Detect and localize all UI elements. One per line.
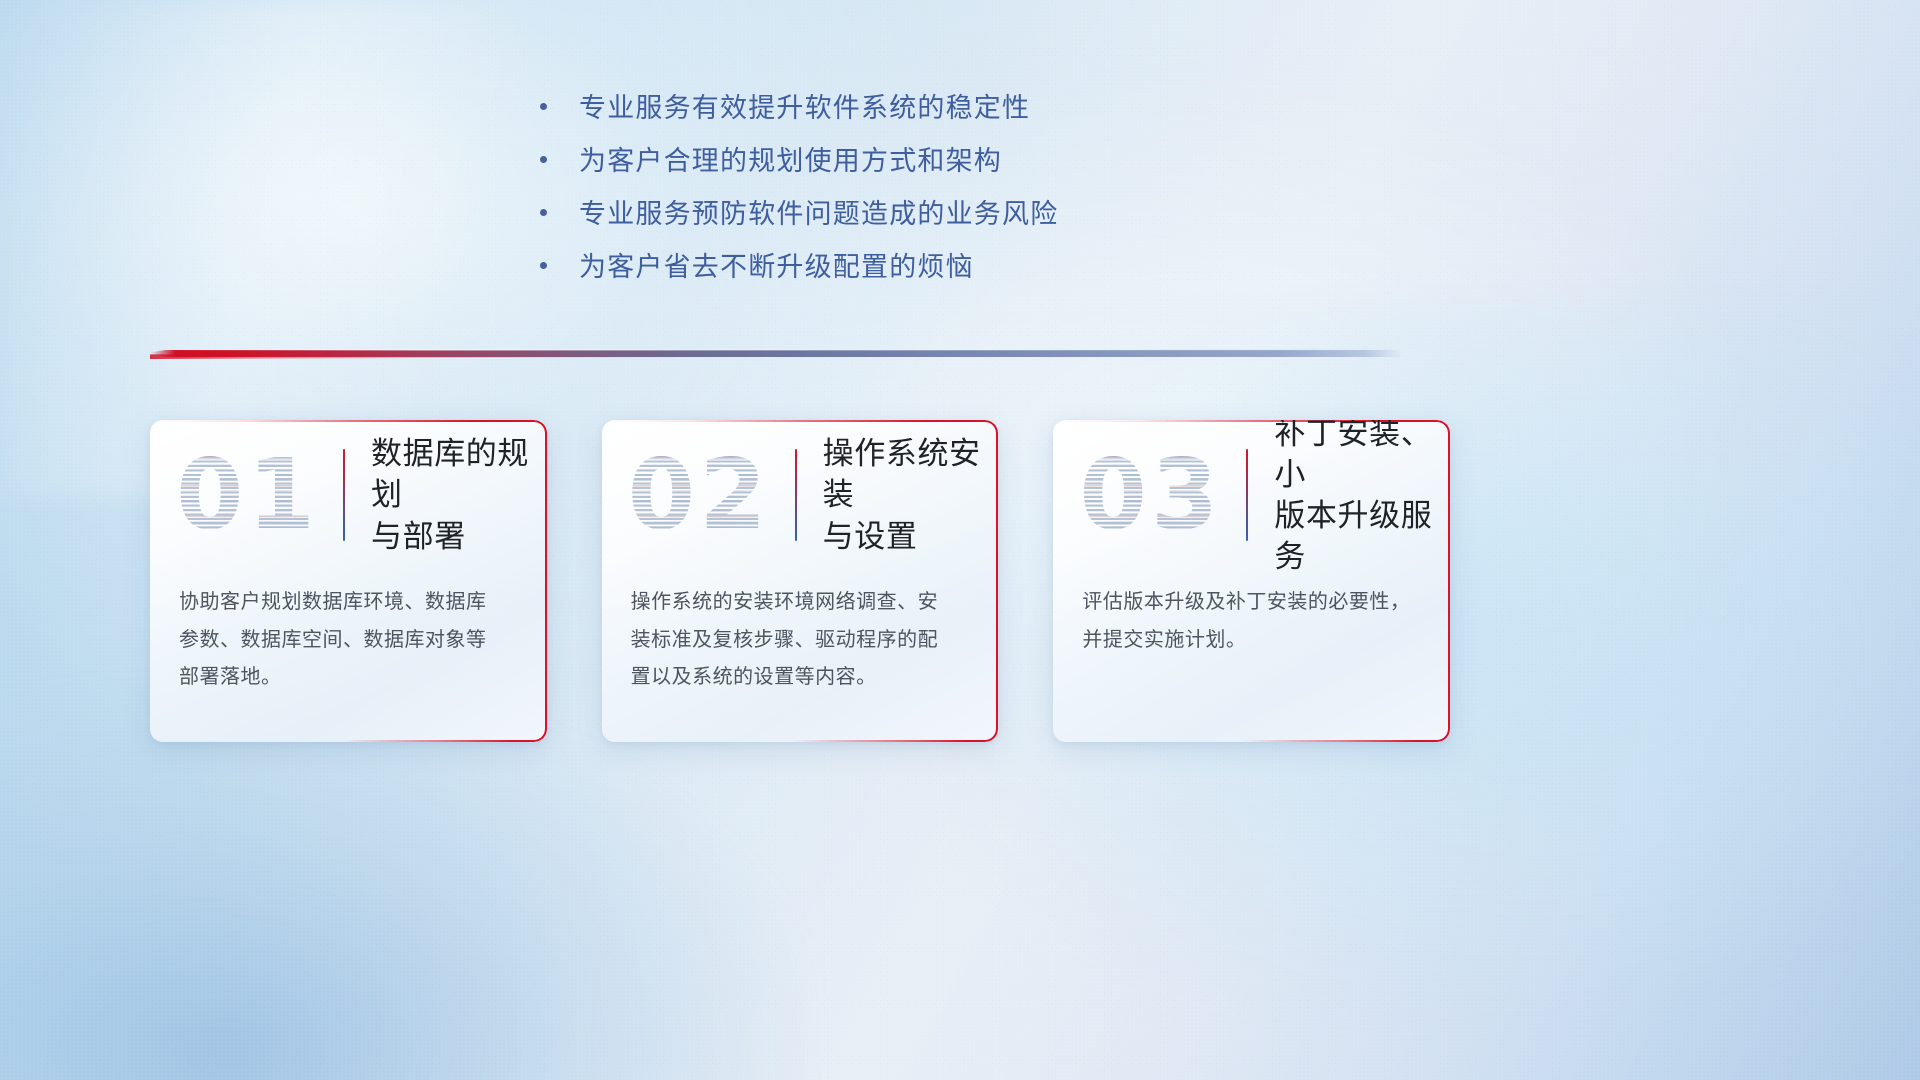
divider-bar <box>150 350 1402 357</box>
bullet-dot-icon <box>540 103 547 110</box>
card-divider-rule <box>343 449 345 541</box>
card-description: 评估版本升级及补丁安装的必要性， 并提交实施计划。 <box>1053 584 1450 659</box>
card-header: 03 03 03 补丁安装、小 版本升级服务 <box>1053 420 1450 570</box>
bullet-item: 为客户合理的规划使用方式和架构 <box>540 145 1360 183</box>
card-title: 补丁安装、小 版本升级服务 <box>1274 420 1450 577</box>
bullet-dot-icon <box>540 262 547 269</box>
service-card[interactable]: 01 01 01 数据库的规划 与部署 协助客户规划数据库环境、数据库 参数、数… <box>150 420 547 742</box>
bullet-item: 为客户省去不断升级配置的烦恼 <box>540 251 1360 289</box>
slide-stage: 专业服务有效提升软件系统的稳定性 为客户合理的规划使用方式和架构 专业服务预防软… <box>0 0 1920 1080</box>
card-divider-rule <box>795 449 797 541</box>
bullet-item-label: 为客户合理的规划使用方式和架构 <box>579 145 1002 177</box>
service-card-list: 01 01 01 数据库的规划 与部署 协助客户规划数据库环境、数据库 参数、数… <box>150 420 1450 745</box>
section-divider <box>150 348 1402 360</box>
bullet-item: 专业服务有效提升软件系统的稳定性 <box>540 92 1360 130</box>
bullet-item-label: 为客户省去不断升级配置的烦恼 <box>579 251 974 283</box>
card-divider-rule <box>1246 449 1248 541</box>
service-card[interactable]: 03 03 03 补丁安装、小 版本升级服务 评估版本升级及补丁安装的必要性， … <box>1053 420 1450 742</box>
service-card[interactable]: 02 02 02 操作系统安装 与设置 操作系统的安装环境网络调查、安 装标准及… <box>602 420 999 742</box>
card-accent-edge-bottom <box>150 729 547 742</box>
bullet-dot-icon <box>540 156 547 163</box>
card-header: 02 02 02 操作系统安装 与设置 <box>602 420 999 570</box>
card-accent-edge-bottom <box>602 729 999 742</box>
bullet-dot-icon <box>540 209 547 216</box>
card-description: 操作系统的安装环境网络调查、安 装标准及复核步骤、驱动程序的配 置以及系统的设置… <box>602 584 999 697</box>
card-number-tint-layer: 01 <box>170 443 325 547</box>
card-title: 操作系统安装 与设置 <box>823 433 999 557</box>
bullet-item-label: 专业服务有效提升软件系统的稳定性 <box>579 92 1030 124</box>
card-number-graphic: 02 02 02 <box>622 443 777 547</box>
card-number-tint-layer: 02 <box>622 443 777 547</box>
card-title: 数据库的规划 与部署 <box>371 433 547 557</box>
card-number-graphic: 03 03 03 <box>1073 443 1228 547</box>
bullet-item-label: 专业服务预防软件问题造成的业务风险 <box>579 198 1058 230</box>
card-header: 01 01 01 数据库的规划 与部署 <box>150 420 547 570</box>
divider-highlight <box>150 349 1402 351</box>
card-number-graphic: 01 01 01 <box>170 443 325 547</box>
bullet-item: 专业服务预防软件问题造成的业务风险 <box>540 198 1360 236</box>
benefits-bullet-list: 专业服务有效提升软件系统的稳定性 为客户合理的规划使用方式和架构 专业服务预防软… <box>540 92 1360 304</box>
card-accent-edge-bottom <box>1053 729 1450 742</box>
card-description: 协助客户规划数据库环境、数据库 参数、数据库空间、数据库对象等 部署落地。 <box>150 584 547 697</box>
card-number-tint-layer: 03 <box>1073 443 1228 547</box>
